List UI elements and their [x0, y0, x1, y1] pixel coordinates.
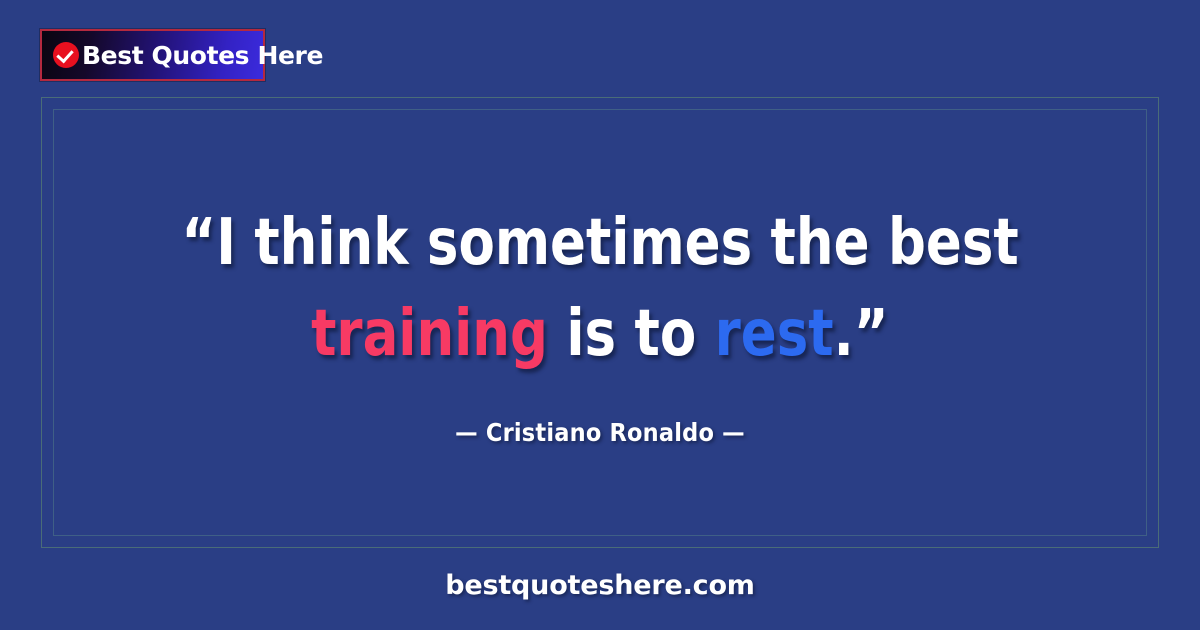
quote-word-training: training	[311, 297, 548, 371]
quote-attribution: — Cristiano Ronaldo —	[455, 418, 745, 447]
quote-container: “I think sometimes the best training is …	[41, 97, 1159, 548]
check-circle-icon	[53, 42, 79, 68]
quote-word-rest: rest	[715, 297, 834, 371]
footer-website-url: bestquoteshere.com	[0, 570, 1200, 601]
quote-word-middle: is to	[548, 297, 715, 371]
logo-text: Best Quotes Here	[82, 43, 323, 68]
site-logo-badge[interactable]: Best Quotes Here	[40, 29, 265, 81]
quote-line-2: training is to rest.”	[311, 289, 888, 380]
quote-line-2-tail: .”	[834, 297, 889, 371]
quote-line-1: “I think sometimes the best	[181, 198, 1018, 289]
